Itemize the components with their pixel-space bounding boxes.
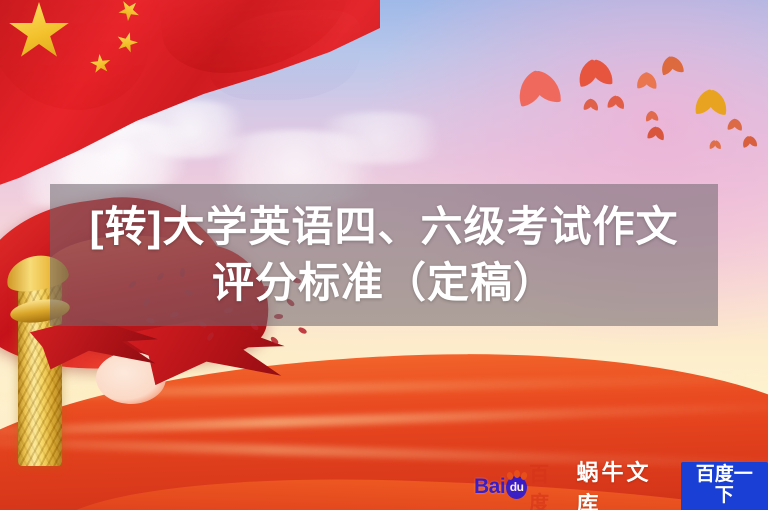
baidu-chinese-text: 百度: [529, 458, 564, 510]
baidu-paw-icon: du: [506, 476, 527, 499]
baidu-paw-text: du: [510, 476, 524, 499]
bird-icon: [607, 96, 626, 108]
bird-icon: [576, 61, 613, 84]
title-line-2: 评分标准（定稿）: [212, 256, 556, 310]
bird-wing: [533, 70, 562, 103]
bird-icon: [659, 56, 685, 73]
petal: [297, 326, 307, 335]
baidu-search-button[interactable]: 百度一下: [681, 462, 768, 510]
poster-image: [转]大学英语四、六级考试作文 评分标准（定稿） Bai du 百度 蜗牛文库 …: [0, 0, 768, 510]
bird-wing: [644, 72, 659, 89]
bird-icon: [645, 112, 659, 121]
bird-icon: [646, 127, 665, 140]
bird-icon: [583, 99, 600, 109]
baidu-latin-text: Bai: [474, 475, 505, 499]
petal: [270, 335, 280, 345]
title-line-1: [转]大学英语四、六级考试作文: [90, 200, 679, 254]
bird-icon: [727, 119, 744, 130]
bird-wing: [650, 111, 659, 121]
title-banner: [转]大学英语四、六级考试作文 评分标准（定稿）: [50, 184, 718, 326]
petal: [206, 331, 215, 341]
bird-icon: [709, 141, 721, 148]
library-watermark-label: 蜗牛文库: [576, 455, 670, 510]
baidu-logo: Bai du 百度: [474, 474, 564, 500]
bird-wing: [713, 140, 721, 149]
bird-icon: [515, 72, 564, 103]
bird-icon: [636, 74, 658, 88]
watermark-bar: Bai du 百度 蜗牛文库 百度一下: [474, 470, 768, 504]
bird-icon: [742, 136, 758, 146]
bird-icon: [694, 91, 729, 112]
bird-wing: [590, 59, 613, 86]
